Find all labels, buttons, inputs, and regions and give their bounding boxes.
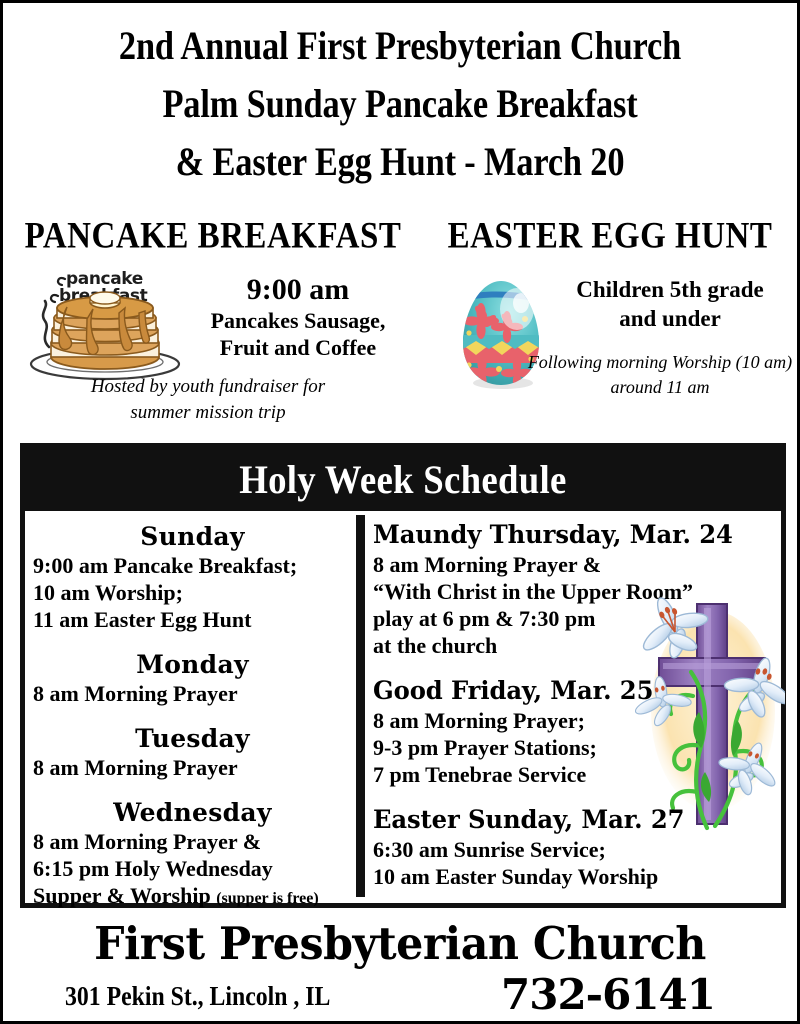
- holy-week-banner: Holy Week Schedule: [25, 448, 781, 511]
- flyer-footer: First Presbyterian Church 301 Pekin St.,…: [3, 918, 797, 1020]
- church-phone: 732-6141: [501, 972, 715, 1018]
- hosted-line-1: Hosted by youth fundraiser for: [43, 374, 373, 400]
- day-item: 6:30 am Sunrise Service;: [373, 836, 777, 863]
- day-item: “With Christ in the Upper Room”: [373, 578, 777, 605]
- day-heading: Monday: [33, 649, 352, 680]
- day-item: 11 am Easter Egg Hunt: [33, 606, 352, 633]
- day-item: 9-3 pm Prayer Stations;: [373, 734, 777, 761]
- day-heading: Tuesday: [33, 723, 352, 754]
- day-item: 8 am Morning Prayer: [33, 680, 352, 707]
- schedule-day-group: Good Friday, Mar. 25 8 am Morning Prayer…: [373, 675, 777, 788]
- day-item: 8 am Morning Prayer;: [373, 707, 777, 734]
- day-item: 10 am Worship;: [33, 579, 352, 606]
- hosted-line-2: summer mission trip: [43, 400, 373, 426]
- schedule-day-group: Wednesday 8 am Morning Prayer & 6:15 pm …: [33, 797, 352, 912]
- schedule-day-group: Sunday 9:00 am Pancake Breakfast; 10 am …: [33, 521, 352, 633]
- day-heading: Easter Sunday, Mar. 27: [373, 804, 765, 836]
- church-name: First Presbyterian Church: [23, 918, 777, 970]
- day-item: 9:00 am Pancake Breakfast;: [33, 552, 352, 579]
- church-address: 301 Pekin St., Lincoln , IL: [65, 980, 330, 1012]
- egg-hunt-timing: Following morning Worship (10 am) around…: [523, 350, 797, 400]
- day-item: 6:15 pm Holy Wednesday: [33, 855, 352, 882]
- schedule-day-group: Tuesday 8 am Morning Prayer: [33, 723, 352, 781]
- day-item: 10 am Easter Sunday Worship: [373, 863, 777, 890]
- schedule-day-group: Easter Sunday, Mar. 27 6:30 am Sunrise S…: [373, 804, 777, 890]
- pancake-menu-line-2: Fruit and Coffee: [173, 334, 423, 361]
- supper-free-note: (supper is free): [216, 890, 319, 907]
- title-line-1: 2nd Annual First Presbyterian Church: [59, 17, 742, 75]
- egg-hunt-heading: EASTER EGG HUNT: [423, 216, 797, 257]
- pancake-stack-icon: pancake breakfast: [19, 265, 191, 383]
- day-heading: Maundy Thursday, Mar. 24: [373, 519, 765, 551]
- egg-eligibility-line-2: and under: [543, 304, 797, 333]
- day-item: 8 am Morning Prayer: [33, 754, 352, 781]
- pancake-hosted-note: Hosted by youth fundraiser for summer mi…: [43, 374, 373, 426]
- easter-egg-hunt-section: EASTER EGG HUNT: [423, 216, 797, 385]
- holy-week-schedule-box: Holy Week Schedule Sunday 9:00 am Pancak…: [20, 443, 786, 908]
- day-item: play at 6 pm & 7:30 pm: [373, 605, 777, 632]
- day-item: 7 pm Tenebrae Service: [373, 761, 777, 788]
- pancake-menu-line-1: Pancakes Sausage,: [173, 307, 423, 334]
- schedule-day-group: Maundy Thursday, Mar. 24 8 am Morning Pr…: [373, 519, 777, 659]
- schedule-right-column: Maundy Thursday, Mar. 24 8 am Morning Pr…: [365, 511, 781, 906]
- title-line-3: & Easter Egg Hunt - March 20: [59, 133, 742, 191]
- day-item-with-note: Supper & Worship (supper is free): [33, 882, 352, 912]
- day-item-text: Supper & Worship: [33, 883, 211, 908]
- schedule-left-column: Sunday 9:00 am Pancake Breakfast; 10 am …: [25, 511, 356, 928]
- day-item: 8 am Morning Prayer &: [33, 828, 352, 855]
- egg-timing-line-1: Following morning Worship (10 am): [523, 350, 797, 375]
- day-heading: Sunday: [33, 521, 352, 552]
- day-heading: Wednesday: [33, 797, 352, 828]
- column-divider: [356, 515, 365, 897]
- pancake-time: 9:00 am: [173, 273, 423, 307]
- egg-hunt-details: Children 5th grade and under: [543, 275, 797, 333]
- promo-row: PANCAKE BREAKFAST pancake breakfast: [3, 216, 797, 438]
- egg-eligibility-line-1: Children 5th grade: [543, 275, 797, 304]
- schedule-day-group: Monday 8 am Morning Prayer: [33, 649, 352, 707]
- day-item: at the church: [373, 632, 777, 659]
- egg-timing-line-2: around 11 am: [523, 375, 797, 400]
- flyer-page: 2nd Annual First Presbyterian Church Pal…: [0, 0, 800, 1024]
- holy-week-columns: Sunday 9:00 am Pancake Breakfast; 10 am …: [25, 511, 781, 903]
- pancake-details: 9:00 am Pancakes Sausage, Fruit and Coff…: [173, 273, 423, 361]
- holy-week-banner-title: Holy Week Schedule: [239, 458, 566, 502]
- day-heading: Good Friday, Mar. 25: [373, 675, 765, 707]
- pancake-heading: PANCAKE BREAKFAST: [3, 216, 423, 257]
- day-item: 8 am Morning Prayer &: [373, 551, 777, 578]
- pancake-breakfast-section: PANCAKE BREAKFAST pancake breakfast: [3, 216, 423, 378]
- flyer-title: 2nd Annual First Presbyterian Church Pal…: [3, 17, 797, 191]
- title-line-2: Palm Sunday Pancake Breakfast: [59, 75, 742, 133]
